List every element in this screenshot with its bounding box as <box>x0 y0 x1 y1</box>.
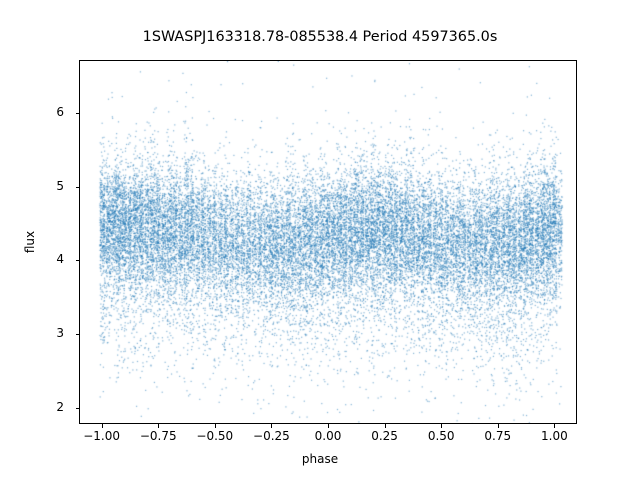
y-axis-label: flux <box>23 231 37 253</box>
x-tick-label: 1.00 <box>514 429 594 443</box>
y-tick-mark <box>76 260 80 261</box>
x-tick-mark <box>271 424 272 428</box>
scatter-plot-canvas <box>80 61 577 424</box>
x-tick-mark <box>441 424 442 428</box>
x-tick-mark <box>385 424 386 428</box>
y-tick-mark <box>76 113 80 114</box>
y-tick-label: 2 <box>0 400 69 414</box>
y-tick-mark <box>76 187 80 188</box>
y-tick-mark <box>76 408 80 409</box>
x-tick-mark <box>215 424 216 428</box>
page-title: 1SWASPJ163318.78-085538.4 Period 4597365… <box>0 29 640 45</box>
y-tick-label: 6 <box>0 105 69 119</box>
x-tick-mark <box>554 424 555 428</box>
x-tick-mark <box>102 424 103 428</box>
y-tick-label: 3 <box>0 326 69 340</box>
x-tick-mark <box>158 424 159 428</box>
x-tick-mark <box>498 424 499 428</box>
plot-axes-area <box>79 60 577 424</box>
figure-canvas: 1SWASPJ163318.78-085538.4 Period 4597365… <box>0 0 640 480</box>
x-axis-label: phase <box>0 452 640 466</box>
y-tick-label: 5 <box>0 179 69 193</box>
y-tick-label: 4 <box>0 252 69 266</box>
x-tick-mark <box>328 424 329 428</box>
y-tick-mark <box>76 334 80 335</box>
